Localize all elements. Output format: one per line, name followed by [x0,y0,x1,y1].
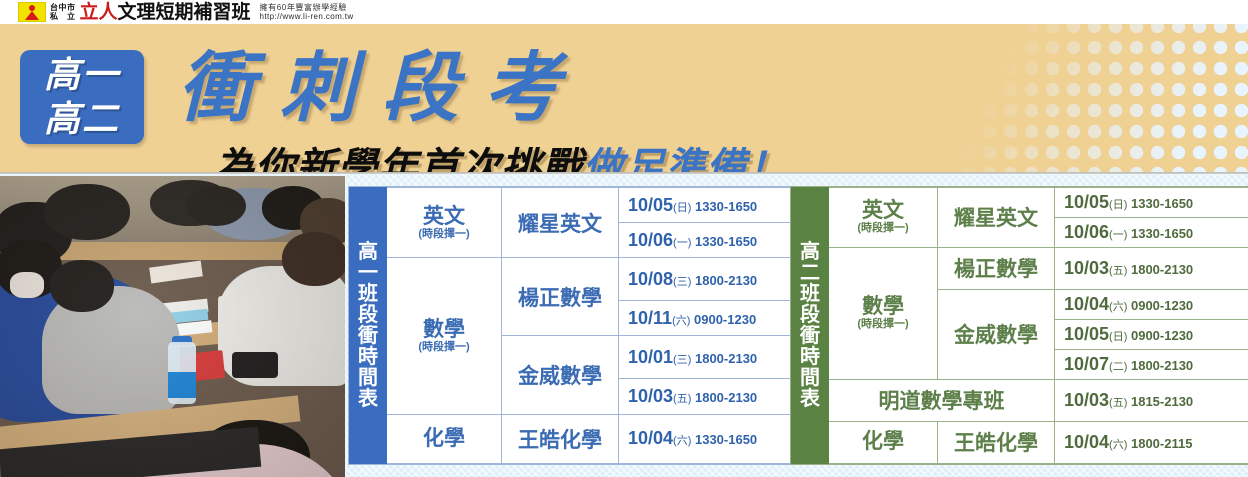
time-range: 1330-1650 [691,234,757,249]
school-city-line2: 私 立 [50,12,76,21]
teacher-cell: 耀星英文 [938,188,1055,248]
school-city-line1: 台中市 [50,3,76,12]
datetime-cell: 10/08(三) 1800-2130 [619,258,813,301]
subject-name: 英文 [862,199,904,222]
datetime-cell: 10/07(二) 1800-2130 [1055,349,1248,379]
time-range: 1800-2115 [1127,436,1192,451]
date-value: 10/05 [1064,192,1109,212]
datetime-cell: 10/03(五) 1800-2130 [1055,247,1248,289]
classroom-photo: 臺中 [0,176,345,477]
grade-badge-line1: 高一 [44,53,120,97]
time-range: 1800-2130 [691,351,757,366]
date-value: 10/07 [1064,354,1109,374]
subject-note: (時段擇一) [389,228,499,241]
teacher-cell: 王皓化學 [938,421,1055,463]
site-logo-bar: 台中市 私 立 立人文理短期補習班 擁有60年豐富辦學經驗 http://www… [0,0,1248,24]
date-value: 10/06 [1064,222,1109,242]
time-range: 1330-1650 [691,432,757,447]
li-ren-logo-icon [18,2,46,22]
teacher-cell: 金威數學 [938,289,1055,379]
halftone-dots-decoration [958,24,1248,174]
weekday-value: (五) [1109,265,1127,277]
subject-cell: 英文(時段擇一) [387,188,502,258]
weekday-value: (一) [1109,229,1127,241]
subject-note: (時段擇一) [389,341,499,354]
date-value: 10/01 [628,347,673,367]
school-url[interactable]: http://www.li-ren.com.tw [260,12,354,21]
weekday-value: (三) [673,354,691,366]
time-range: 0900-1230 [690,312,756,327]
promo-banner: 高一 高二 衝刺段考 為你新學年首次挑戰做足準備！ [0,24,1248,174]
time-range: 0900-1230 [1127,328,1193,343]
date-value: 10/08 [628,269,673,289]
subject-name: 數學 [862,295,904,318]
subject-note: (時段擇一) [831,318,935,331]
subject-note: (時段擇一) [831,222,935,235]
table-row: 數學(時段擇一)楊正數學10/03(五) 1800-2130 [792,247,1248,289]
promo-flyer: 台中市 私 立 立人文理短期補習班 擁有60年豐富辦學經驗 http://www… [0,0,1248,477]
weekday-value: (日) [673,202,691,214]
teacher-cell: 金威數學 [502,336,619,414]
school-name-black: 文理短期補習班 [118,2,251,23]
school-tagline: 擁有60年豐富辦學經驗 http://www.li-ren.com.tw [260,3,354,21]
datetime-cell: 10/06(一) 1330-1650 [1055,217,1248,247]
grade-badge-line2: 高二 [44,97,120,141]
grade-badge: 高一 高二 [20,50,144,144]
weekday-value: (六) [1109,439,1127,451]
school-experience: 擁有60年豐富辦學經驗 [260,3,354,12]
table-row: 化學王皓化學10/04(六) 1800-2115 [792,421,1248,463]
schedule-sidebar-title: 高二班段衝時間表 [792,188,829,464]
banner-subtitle-blue: 做足準備！ [583,146,788,174]
teacher-cell: 王皓化學 [502,414,619,464]
table-row: 數學(時段擇一)楊正數學10/08(三) 1800-2130 [350,258,813,301]
teacher-cell: 耀星英文 [502,188,619,258]
datetime-cell: 10/04(六) 1330-1650 [619,414,813,464]
teacher-cell: 楊正數學 [502,258,619,336]
datetime-cell: 10/05(日) 0900-1230 [1055,319,1248,349]
school-city: 台中市 私 立 [50,3,76,21]
teacher-cell: 楊正數學 [938,247,1055,289]
date-value: 10/03 [628,386,673,406]
schedule-sidebar-title: 高一班段衝時間表 [350,188,387,464]
subject-cell: 化學 [829,421,938,463]
datetime-cell: 10/05(日) 1330-1650 [1055,188,1248,218]
weekday-value: (五) [673,393,691,405]
table-row: 化學王皓化學10/04(六) 1330-1650 [350,414,813,464]
time-range: 1330-1650 [1127,226,1193,241]
weekday-value: (六) [672,315,690,327]
date-value: 10/05 [628,195,673,215]
school-name: 立人文理短期補習班 [80,3,251,22]
schedule-table-grade1: 高一班段衝時間表英文(時段擇一)耀星英文10/05(日) 1330-165010… [349,187,813,464]
weekday-value: (二) [1109,361,1127,373]
weekday-value: (日) [1109,331,1127,343]
weekday-value: (六) [673,435,691,447]
subject-cell: 數學(時段擇一) [829,247,938,379]
special-class-cell: 明道數學專班 [829,379,1055,421]
school-name-red: 立人 [80,2,118,23]
datetime-cell: 10/03(五) 1815-2130 [1055,379,1248,421]
date-value: 10/04 [1064,294,1109,314]
datetime-cell: 10/03(五) 1800-2130 [619,379,813,414]
date-value: 10/11 [628,308,672,328]
time-range: 1815-2130 [1127,394,1193,409]
banner-subtitle: 為你新學年首次挑戰做足準備！ [214,144,788,174]
time-range: 1800-2130 [1127,262,1193,277]
date-value: 10/03 [1064,258,1109,278]
table-row: 高二班段衝時間表英文(時段擇一)耀星英文10/05(日) 1330-1650 [792,188,1248,218]
datetime-cell: 10/01(三) 1800-2130 [619,336,813,379]
subject-cell: 數學(時段擇一) [387,258,502,414]
datetime-cell: 10/11(六) 0900-1230 [619,301,813,336]
weekday-value: (日) [1109,199,1127,211]
time-range: 1800-2130 [1127,358,1193,373]
weekday-value: (六) [1109,301,1127,313]
table-row: 高一班段衝時間表英文(時段擇一)耀星英文10/05(日) 1330-1650 [350,188,813,223]
datetime-cell: 10/05(日) 1330-1650 [619,188,813,223]
time-range: 1330-1650 [691,199,757,214]
subject-name: 數學 [423,318,465,341]
subject-name: 化學 [423,427,465,450]
date-value: 10/06 [628,230,673,250]
datetime-cell: 10/04(六) 1800-2115 [1055,421,1248,463]
banner-subtitle-black: 為你新學年首次挑戰 [214,146,583,174]
datetime-cell: 10/04(六) 0900-1230 [1055,289,1248,319]
date-value: 10/05 [1064,324,1109,344]
time-range: 1800-2130 [691,390,757,405]
weekday-value: (一) [673,237,691,249]
schedule-table-grade2: 高二班段衝時間表英文(時段擇一)耀星英文10/05(日) 1330-165010… [791,187,1248,464]
table-row: 明道數學專班10/03(五) 1815-2130 [792,379,1248,421]
time-range: 0900-1230 [1127,298,1193,313]
date-value: 10/04 [1064,432,1109,452]
subject-name: 化學 [862,430,904,453]
date-value: 10/04 [628,428,673,448]
subject-name: 英文 [423,205,465,228]
subject-cell: 化學 [387,414,502,464]
subject-cell: 英文(時段擇一) [829,188,938,248]
date-value: 10/03 [1064,390,1109,410]
time-range: 1330-1650 [1127,196,1193,211]
time-range: 1800-2130 [691,273,757,288]
weekday-value: (三) [673,276,691,288]
datetime-cell: 10/06(一) 1330-1650 [619,223,813,258]
weekday-value: (五) [1109,397,1127,409]
banner-headline: 衝刺段考 [178,46,586,132]
